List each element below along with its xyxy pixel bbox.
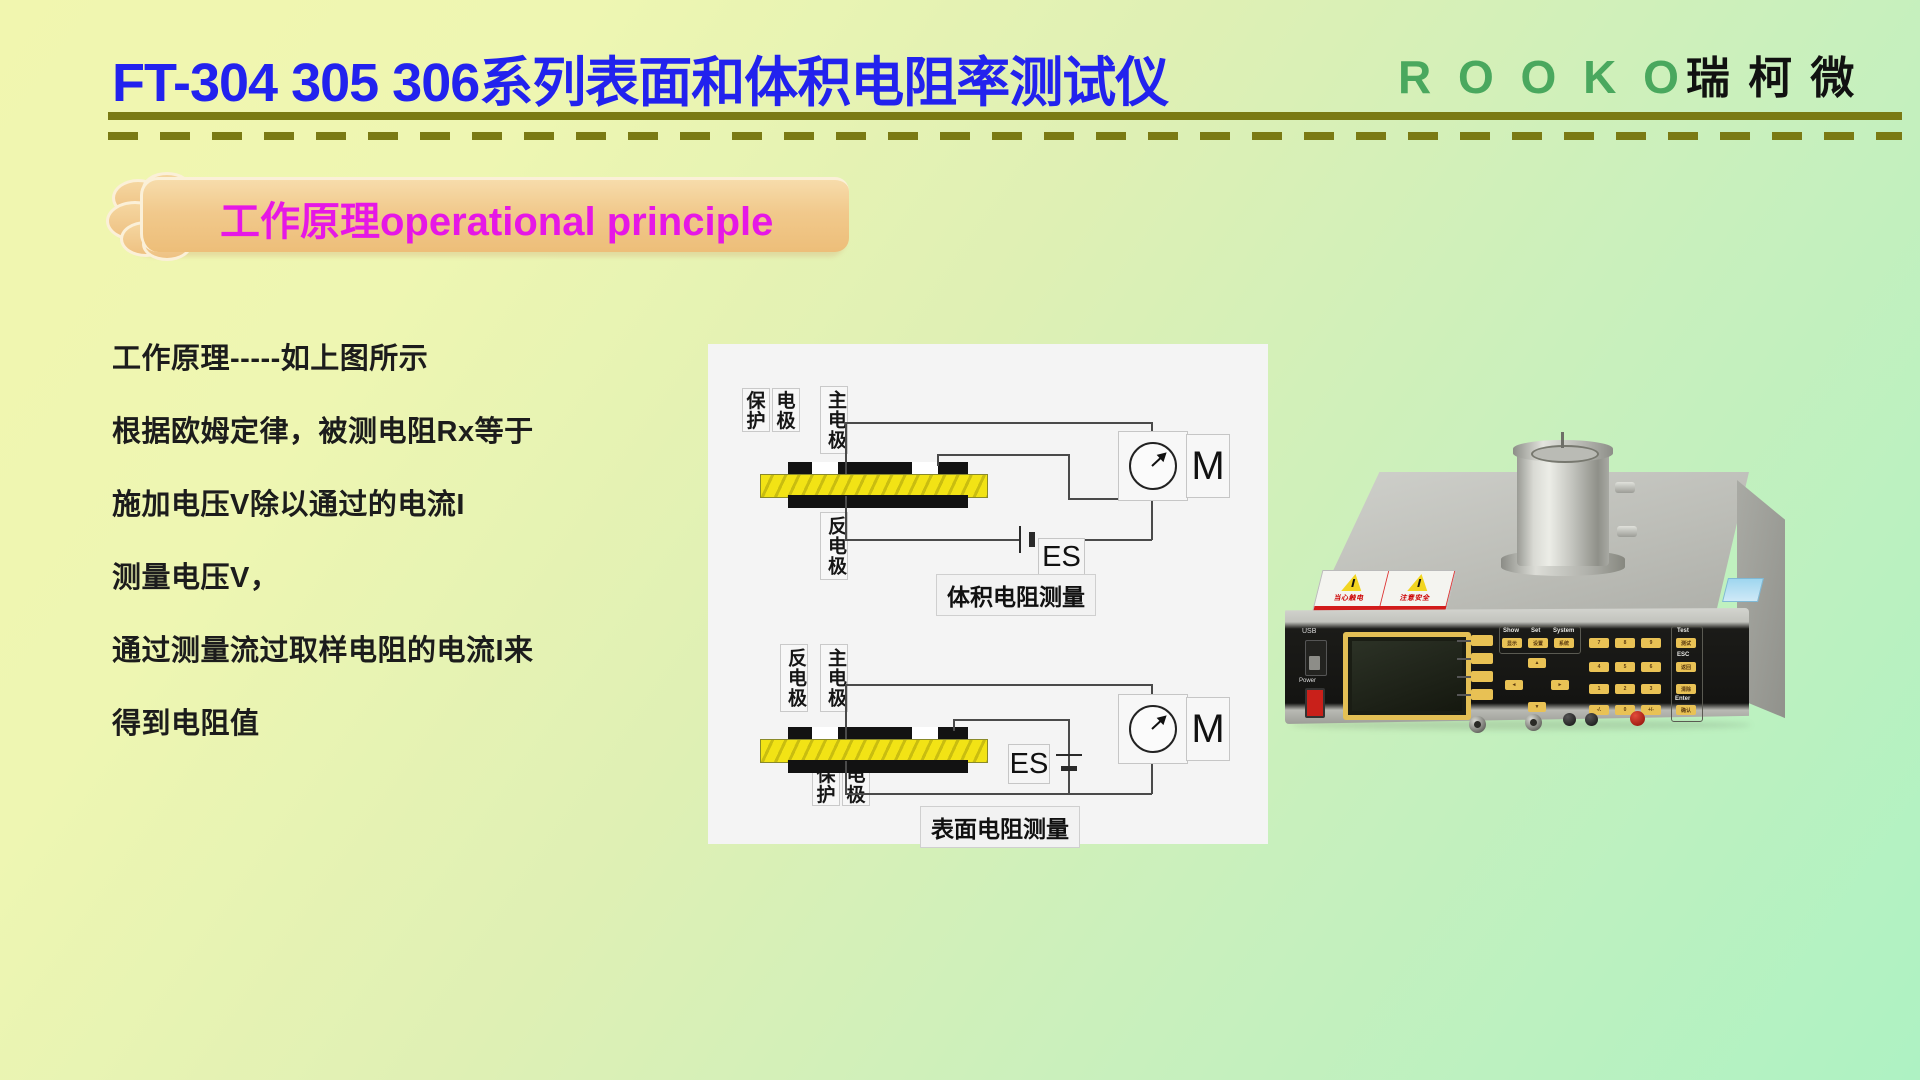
meter-dial: [1129, 705, 1177, 753]
ground-binding-post[interactable]: [1630, 711, 1645, 726]
meter-label-m: M: [1186, 697, 1230, 761]
meter-frame: [1118, 694, 1188, 764]
label-guard-electrode-2: 电极: [772, 388, 800, 432]
soft-key-line: [1457, 658, 1471, 660]
principle-diagram-panel: 保护 电极 主电极 反电极 ES: [708, 344, 1268, 844]
soft-key[interactable]: [1471, 671, 1493, 682]
brand-name-en: R O O K O: [1398, 51, 1686, 103]
label-main-electrode: 主电极: [820, 386, 848, 454]
key-set[interactable]: 设置: [1528, 638, 1548, 648]
paragraph-line: 通过测量流过取样电阻的电流I来: [112, 637, 712, 666]
soft-key-line: [1457, 640, 1471, 642]
binding-post[interactable]: [1585, 713, 1598, 726]
binding-post[interactable]: [1563, 713, 1576, 726]
test-cell-body[interactable]: [1517, 448, 1609, 566]
test-cell-knob[interactable]: [1615, 482, 1635, 493]
meter-frame: [1118, 431, 1188, 501]
key-4[interactable]: 4: [1589, 662, 1609, 672]
specimen-stack: [760, 727, 980, 767]
wire: [845, 793, 1152, 795]
test-cell-knob[interactable]: [1617, 526, 1637, 537]
key-system[interactable]: 系统: [1554, 638, 1574, 648]
usb-slot-icon: [1309, 656, 1320, 670]
high-voltage-icon: [1341, 574, 1365, 591]
section-banner: 工作原理operational principle: [112, 175, 852, 257]
meter-needle: [1151, 716, 1166, 730]
bottom-electrode: [788, 760, 968, 773]
wire: [937, 454, 1069, 456]
usb-label: USB: [1302, 628, 1316, 635]
header-rule-solid: [108, 112, 1902, 120]
key-7[interactable]: 7: [1589, 638, 1609, 648]
wire: [953, 719, 1069, 721]
voltage-source-es: ES: [1038, 538, 1085, 576]
specimen-stack: [760, 462, 980, 502]
brand-logo: R O O K O瑞 柯 微: [1398, 42, 1857, 106]
bottom-electrode: [788, 495, 968, 508]
volume-resistance-diagram: 保护 电极 主电极 反电极 ES: [708, 344, 1268, 594]
key-arrow-right[interactable]: ►: [1551, 680, 1569, 690]
key-esc[interactable]: 返回: [1676, 662, 1696, 672]
key-arrow-up[interactable]: ▲: [1528, 658, 1546, 668]
key-8[interactable]: 8: [1615, 638, 1635, 648]
key-3[interactable]: 3: [1641, 684, 1661, 694]
serial-tag: [1722, 578, 1764, 602]
paragraph-line: 得到电阻值: [112, 710, 712, 739]
key-6[interactable]: 6: [1641, 662, 1661, 672]
wire: [1068, 454, 1070, 499]
lcd-screen: [1343, 632, 1471, 720]
page-title: FT-304 305 306系列表面和体积电阻率测试仪: [112, 38, 1168, 117]
soft-key-line: [1457, 676, 1471, 678]
battery-short-plate: [1029, 532, 1035, 547]
side-key-label: ESC: [1677, 652, 1689, 658]
warning-label-text: 当心触电: [1333, 593, 1365, 603]
instrument-photo: 当心触电 注意安全 USB Power Show Set System 显示 设…: [1285, 430, 1785, 830]
bnc-connector-center: [1474, 721, 1481, 728]
soft-key-line: [1457, 694, 1471, 696]
key-1[interactable]: 1: [1589, 684, 1609, 694]
function-key-label: Set: [1531, 628, 1540, 634]
label-main-electrode: 主电极: [820, 644, 848, 712]
soft-key[interactable]: [1471, 635, 1493, 646]
banner-title: 工作原理operational principle: [220, 189, 773, 247]
header-rule-dashed: [108, 132, 1902, 140]
wire: [845, 684, 847, 739]
wire: [845, 539, 1020, 541]
surface-resistance-diagram: 反电极 主电极 保护 电极 ES M 表面电阻测量: [708, 594, 1268, 844]
battery-short-plate: [1061, 766, 1077, 771]
power-label: Power: [1299, 678, 1316, 684]
paragraph-line: 根据欧姆定律，被测电阻Rx等于: [112, 418, 712, 447]
label-counter-electrode: 反电极: [780, 644, 808, 712]
warning-sticker: 当心触电 注意安全: [1312, 570, 1457, 614]
key-2[interactable]: 2: [1615, 684, 1635, 694]
label-guard-electrode-1: 保护: [742, 388, 770, 432]
paragraph-line: 施加电压V除以通过的电流I: [112, 491, 712, 520]
key-enter[interactable]: 确认: [1676, 705, 1696, 715]
side-key-label: Enter: [1675, 696, 1690, 702]
key-sign[interactable]: +/-: [1641, 705, 1661, 715]
brand-name-cn: 瑞 柯 微: [1686, 54, 1857, 103]
caution-icon: [1407, 574, 1431, 591]
wire: [845, 496, 847, 540]
wire: [845, 684, 1152, 686]
wire: [845, 422, 1152, 424]
key-show[interactable]: 显示: [1502, 638, 1522, 648]
test-cell-rod: [1561, 432, 1564, 448]
paragraph-line: 工作原理-----如上图所示: [112, 345, 712, 374]
coax-connector-center: [1530, 719, 1537, 726]
meter-label-m: M: [1186, 434, 1230, 498]
soft-key[interactable]: [1471, 689, 1493, 700]
side-key-label: Test: [1677, 628, 1689, 634]
function-key-label: System: [1553, 628, 1574, 634]
test-cell-ring: [1531, 445, 1599, 463]
soft-key[interactable]: [1471, 653, 1493, 664]
label-counter-electrode: 反电极: [820, 512, 848, 580]
principle-text-block: 工作原理-----如上图所示 根据欧姆定律，被测电阻Rx等于 施加电压V除以通过…: [112, 345, 712, 783]
warning-label-text: 注意安全: [1399, 593, 1431, 603]
wire: [845, 422, 847, 474]
key-clear[interactable]: 清除: [1676, 684, 1696, 694]
voltage-source-es: ES: [1008, 744, 1050, 784]
function-key-label: Show: [1503, 628, 1519, 634]
key-9[interactable]: 9: [1641, 638, 1661, 648]
key-5[interactable]: 5: [1615, 662, 1635, 672]
power-switch[interactable]: [1305, 688, 1325, 718]
diagram-caption-surface: 表面电阻测量: [920, 806, 1080, 848]
battery-long-plate: [1019, 526, 1021, 553]
wire: [845, 761, 847, 794]
page-header: FT-304 305 306系列表面和体积电阻率测试仪 R O O K O瑞 柯…: [0, 0, 1920, 150]
key-arrow-down[interactable]: ▼: [1528, 702, 1546, 712]
wire: [1151, 497, 1153, 540]
battery-long-plate: [1056, 754, 1082, 756]
lcd-screen-surface: [1352, 641, 1462, 711]
wire: [1068, 719, 1070, 794]
key-test[interactable]: 测试: [1676, 638, 1696, 648]
meter-needle: [1151, 453, 1166, 467]
paragraph-line: 测量电压V，: [112, 564, 712, 593]
meter-dial: [1129, 442, 1177, 490]
key-arrow-left[interactable]: ◄: [1505, 680, 1523, 690]
